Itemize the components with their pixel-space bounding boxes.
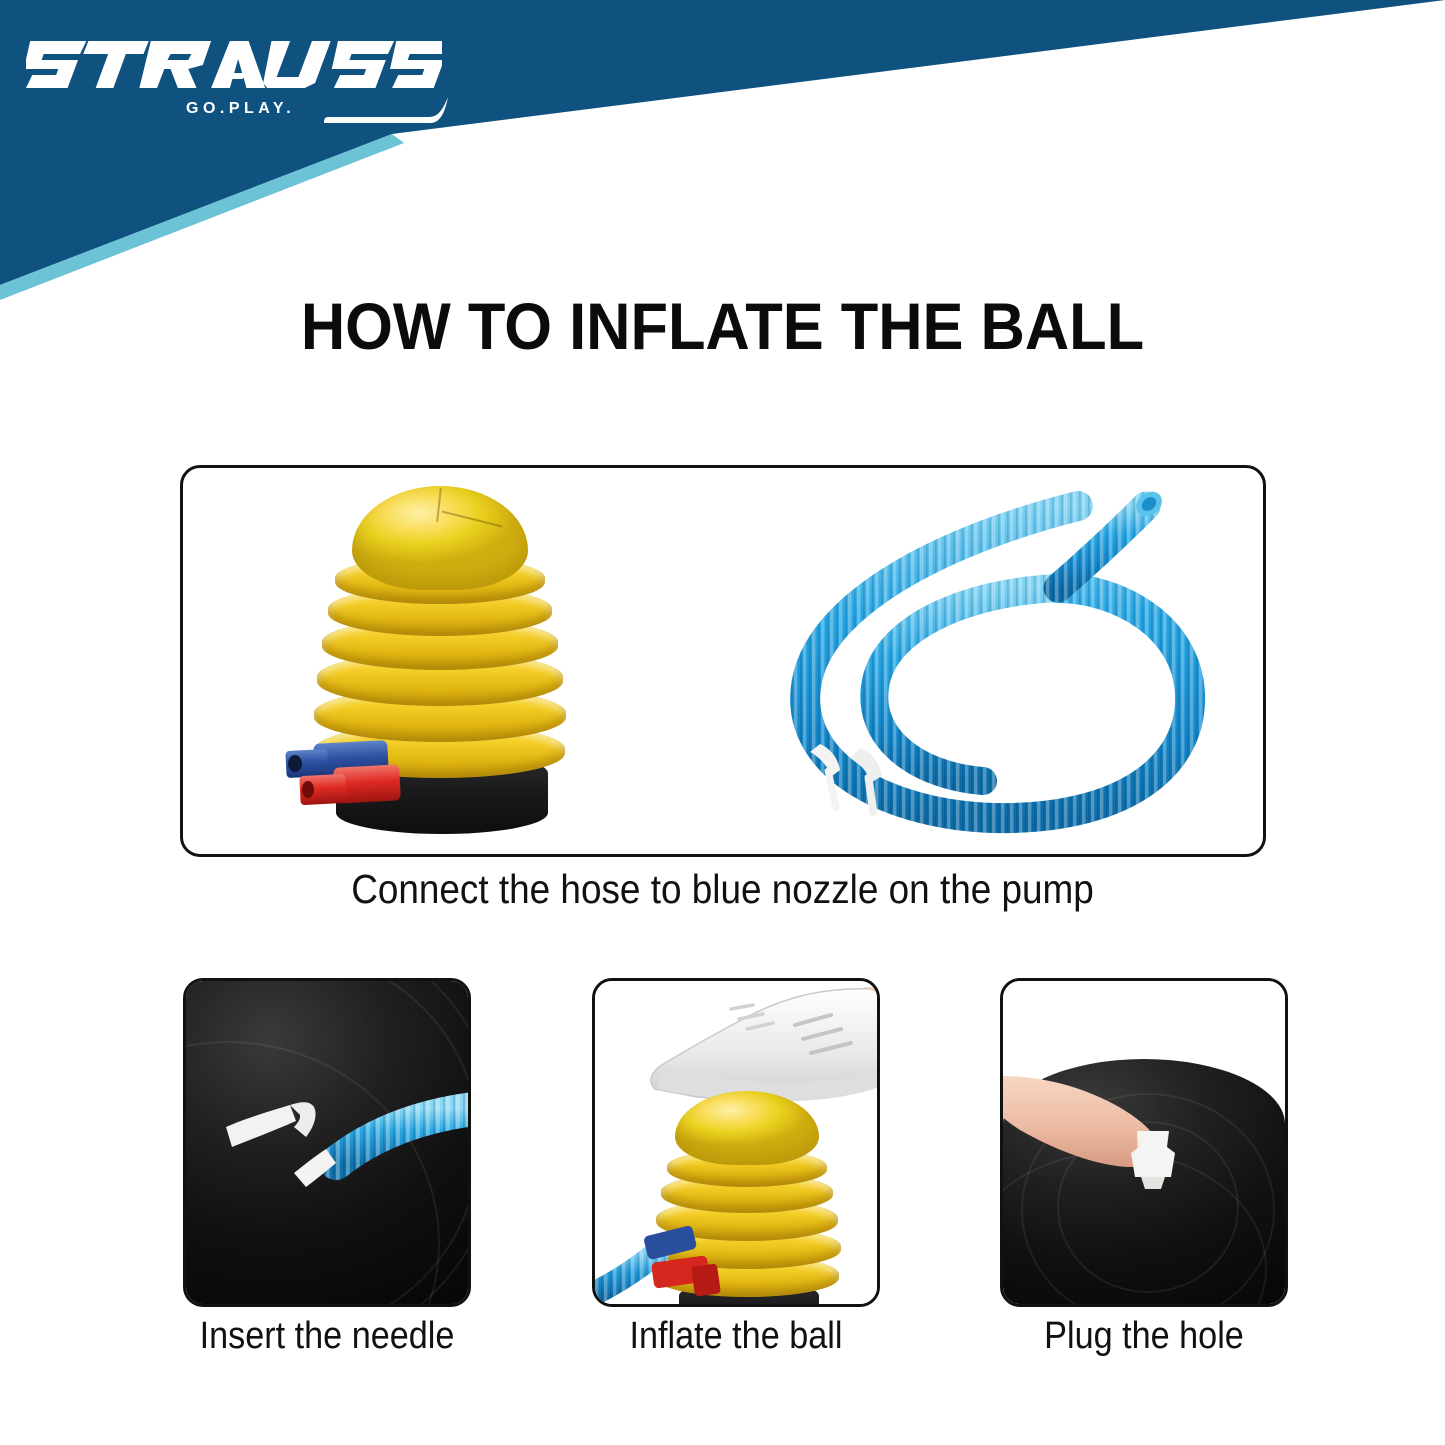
pump-nozzles <box>278 742 418 834</box>
step-caption-inflate-ball: Inflate the ball <box>606 1315 865 1358</box>
foot-pump-image <box>278 480 598 850</box>
step-panel-inflate-ball <box>592 978 880 1307</box>
needle-valve <box>226 1102 316 1147</box>
brand-header: GO.PLAY. <box>0 0 1445 300</box>
air-hose-image <box>758 476 1208 851</box>
step-panel-insert-needle <box>183 978 471 1307</box>
main-product-panel <box>180 465 1266 857</box>
brand-logo: GO.PLAY. <box>26 33 426 133</box>
brand-tagline: GO.PLAY. <box>186 100 295 118</box>
step-panel-plug-hole <box>1000 978 1288 1307</box>
step-caption-insert-needle: Insert the needle <box>197 1315 456 1358</box>
page-title: HOW TO INFLATE THE BALL <box>51 288 1395 364</box>
swoosh-icon <box>322 95 448 129</box>
main-panel-caption: Connect the hose to blue nozzle on the p… <box>72 866 1373 913</box>
instruction-page: GO.PLAY. HOW TO INFLATE THE BALL <box>0 0 1445 1445</box>
white-plug <box>1123 1127 1183 1193</box>
step-caption-plug-hole: Plug the hole <box>1014 1315 1273 1358</box>
